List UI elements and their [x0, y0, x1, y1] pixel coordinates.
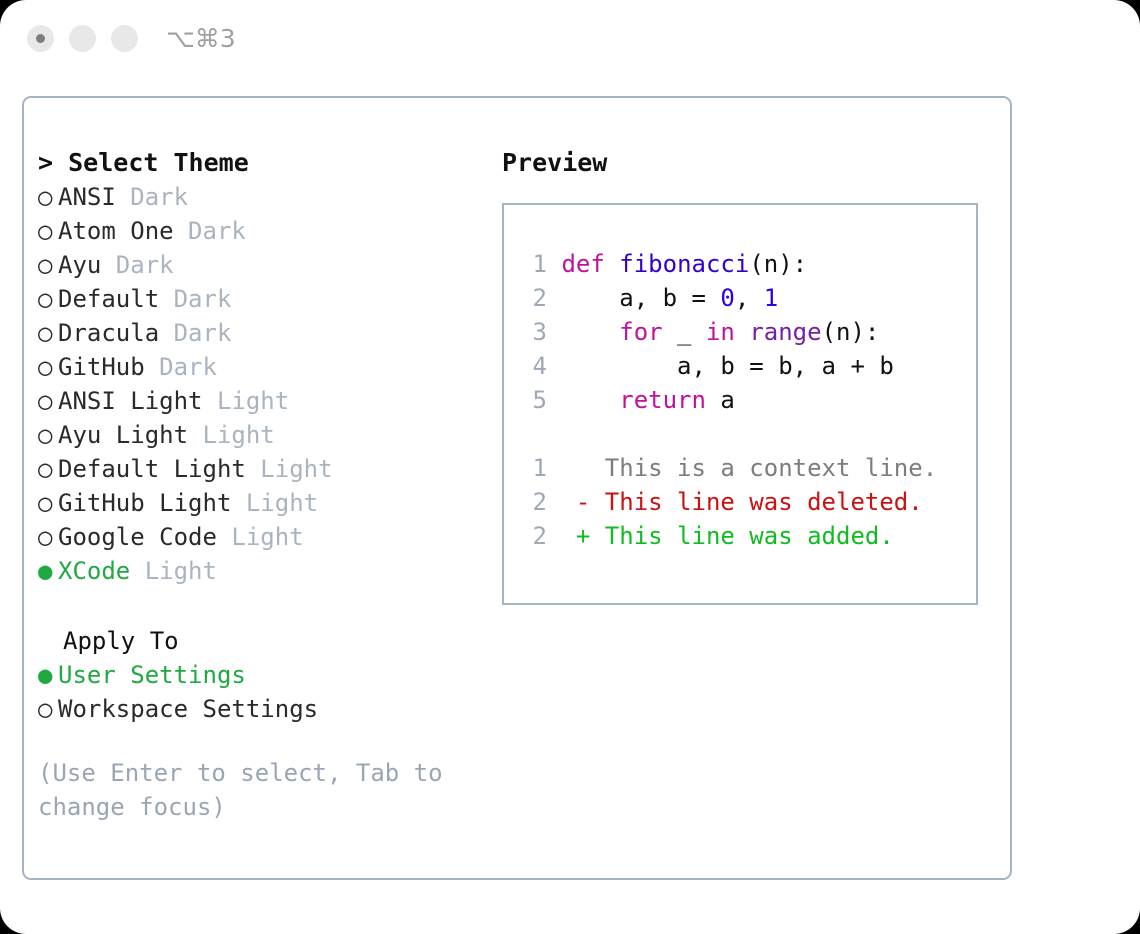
- theme-variant-tag: Light: [203, 387, 290, 415]
- theme-option-label: ANSI Light: [58, 387, 203, 415]
- code-diff-separator: [519, 417, 937, 451]
- theme-variant-tag: Dark: [101, 251, 173, 279]
- theme-option-label: ANSI: [58, 183, 116, 211]
- code-preview: 1 def fibonacci(n):2 a, b = 0, 13 for _ …: [519, 247, 937, 553]
- traffic-light-buttons: [27, 25, 138, 52]
- theme-option-ayu[interactable]: ○Ayu Dark: [38, 248, 478, 282]
- radio-unselected-icon: ○: [38, 214, 58, 248]
- code-token-plain: [561, 318, 619, 346]
- radio-selected-icon: ●: [38, 658, 58, 692]
- code-line: 3 for _ in range(n):: [519, 315, 937, 349]
- radio-unselected-icon: ○: [38, 452, 58, 486]
- diff-marker: [576, 454, 590, 482]
- theme-variant-tag: Dark: [159, 285, 231, 313]
- code-token-blt: range: [749, 318, 821, 346]
- select-theme-header: > Select Theme: [38, 146, 478, 180]
- radio-unselected-icon: ○: [38, 486, 58, 520]
- apply-to-option-label: User Settings: [58, 661, 246, 689]
- theme-option-xcode[interactable]: ●XCode Light: [38, 554, 478, 588]
- theme-option-label: Default Light: [58, 455, 246, 483]
- code-token-num: 1: [764, 284, 778, 312]
- code-token-plain: (n):: [749, 250, 807, 278]
- theme-option-ansi[interactable]: ○ANSI Dark: [38, 180, 478, 214]
- code-token-plain: a: [706, 386, 735, 414]
- diff-marker: +: [576, 522, 590, 550]
- theme-option-label: Atom One: [58, 217, 174, 245]
- keyboard-shortcut-label: ⌥⌘3: [166, 24, 236, 53]
- code-token-plain: (n):: [822, 318, 880, 346]
- theme-variant-tag: Light: [130, 557, 217, 585]
- theme-option-ayu-light[interactable]: ○Ayu Light Light: [38, 418, 478, 452]
- diff-line-del: 2 - This line was deleted.: [519, 485, 937, 519]
- title-bar: ⌥⌘3: [0, 0, 1140, 80]
- maximize-button[interactable]: [111, 25, 138, 52]
- main-panel: > Select Theme ○ANSI Dark○Atom One Dark○…: [22, 96, 1012, 880]
- theme-variant-tag: Light: [217, 523, 304, 551]
- line-number: 3: [519, 315, 547, 349]
- theme-option-atom-one[interactable]: ○Atom One Dark: [38, 214, 478, 248]
- code-token-plain: a, b = b, a + b: [561, 352, 893, 380]
- code-token-plain: [735, 318, 749, 346]
- line-number: 2: [519, 281, 547, 315]
- code-token-kw: return: [619, 386, 706, 414]
- code-line: 2 a, b = 0, 1: [519, 281, 937, 315]
- diff-text: This is a context line.: [590, 454, 937, 482]
- code-line: 1 def fibonacci(n):: [519, 247, 937, 281]
- radio-unselected-icon: ○: [38, 350, 58, 384]
- diff-text: This line was added.: [590, 522, 893, 550]
- theme-option-label: XCode: [58, 557, 130, 585]
- apply-to-list: ●User Settings○Workspace Settings: [38, 658, 478, 726]
- diff-text: This line was deleted.: [590, 488, 922, 516]
- theme-list: ○ANSI Dark○Atom One Dark○Ayu Dark○Defaul…: [38, 180, 478, 588]
- theme-option-label: Google Code: [58, 523, 217, 551]
- code-line: 4 a, b = b, a + b: [519, 349, 937, 383]
- theme-variant-tag: Dark: [145, 353, 217, 381]
- theme-option-label: Ayu Light: [58, 421, 188, 449]
- code-token-plain: [561, 386, 619, 414]
- theme-selector-column: > Select Theme ○ANSI Dark○Atom One Dark○…: [38, 146, 478, 824]
- code-token-kw: def: [561, 250, 604, 278]
- radio-unselected-icon: ○: [38, 248, 58, 282]
- theme-option-label: Dracula: [58, 319, 159, 347]
- diff-marker: -: [576, 488, 590, 516]
- line-number: 1: [519, 247, 547, 281]
- app-window: ⌥⌘3 > Select Theme ○ANSI Dark○Atom One D…: [0, 0, 1140, 934]
- theme-option-default[interactable]: ○Default Dark: [38, 282, 478, 316]
- active-dot-icon: [36, 34, 45, 43]
- line-number: 2: [519, 519, 547, 553]
- code-token-fn: fibonacci: [619, 250, 749, 278]
- radio-unselected-icon: ○: [38, 316, 58, 350]
- caret-icon: >: [38, 148, 53, 177]
- apply-to-header: Apply To: [38, 624, 478, 658]
- code-token-plain: a, b =: [561, 284, 720, 312]
- code-line: 5 return a: [519, 383, 937, 417]
- minimize-button[interactable]: [69, 25, 96, 52]
- theme-variant-tag: Light: [246, 455, 333, 483]
- hint-text: (Use Enter to select, Tab to change focu…: [38, 756, 448, 824]
- theme-variant-tag: Dark: [116, 183, 188, 211]
- theme-option-label: Ayu: [58, 251, 101, 279]
- theme-variant-tag: Light: [188, 421, 275, 449]
- theme-option-ansi-light[interactable]: ○ANSI Light Light: [38, 384, 478, 418]
- diff-line-ctx: 1 This is a context line.: [519, 451, 937, 485]
- radio-unselected-icon: ○: [38, 520, 58, 554]
- theme-option-default-light[interactable]: ○Default Light Light: [38, 452, 478, 486]
- code-token-plain: ,: [735, 284, 764, 312]
- select-theme-label: Select Theme: [68, 148, 249, 177]
- preview-box: 1 def fibonacci(n):2 a, b = 0, 13 for _ …: [502, 203, 978, 605]
- theme-option-github[interactable]: ○GitHub Dark: [38, 350, 478, 384]
- theme-option-github-light[interactable]: ○GitHub Light Light: [38, 486, 478, 520]
- theme-option-dracula[interactable]: ○Dracula Dark: [38, 316, 478, 350]
- code-token-kw: in: [706, 318, 735, 346]
- code-token-num: 0: [720, 284, 734, 312]
- radio-selected-icon: ●: [38, 554, 58, 588]
- line-number: 4: [519, 349, 547, 383]
- apply-to-option-user-settings[interactable]: ●User Settings: [38, 658, 478, 692]
- radio-unselected-icon: ○: [38, 282, 58, 316]
- line-number: 1: [519, 451, 547, 485]
- line-number: 5: [519, 383, 547, 417]
- theme-variant-tag: Light: [231, 489, 318, 517]
- theme-option-label: GitHub: [58, 353, 145, 381]
- close-button[interactable]: [27, 25, 54, 52]
- radio-unselected-icon: ○: [38, 180, 58, 214]
- code-token-kw: for: [619, 318, 662, 346]
- code-token-plain: _: [663, 318, 706, 346]
- diff-line-add: 2 + This line was added.: [519, 519, 937, 553]
- theme-variant-tag: Dark: [174, 217, 246, 245]
- radio-unselected-icon: ○: [38, 692, 58, 726]
- apply-to-option-workspace-settings[interactable]: ○Workspace Settings: [38, 692, 478, 726]
- radio-unselected-icon: ○: [38, 384, 58, 418]
- code-token-plain: [605, 250, 619, 278]
- preview-title: Preview: [502, 146, 992, 180]
- preview-column: Preview 1 def fibonacci(n):2 a, b = 0, 1…: [502, 146, 992, 605]
- theme-option-google-code[interactable]: ○Google Code Light: [38, 520, 478, 554]
- theme-option-label: GitHub Light: [58, 489, 231, 517]
- theme-variant-tag: Dark: [159, 319, 231, 347]
- line-number: 2: [519, 485, 547, 519]
- apply-to-option-label: Workspace Settings: [58, 695, 318, 723]
- theme-option-label: Default: [58, 285, 159, 313]
- radio-unselected-icon: ○: [38, 418, 58, 452]
